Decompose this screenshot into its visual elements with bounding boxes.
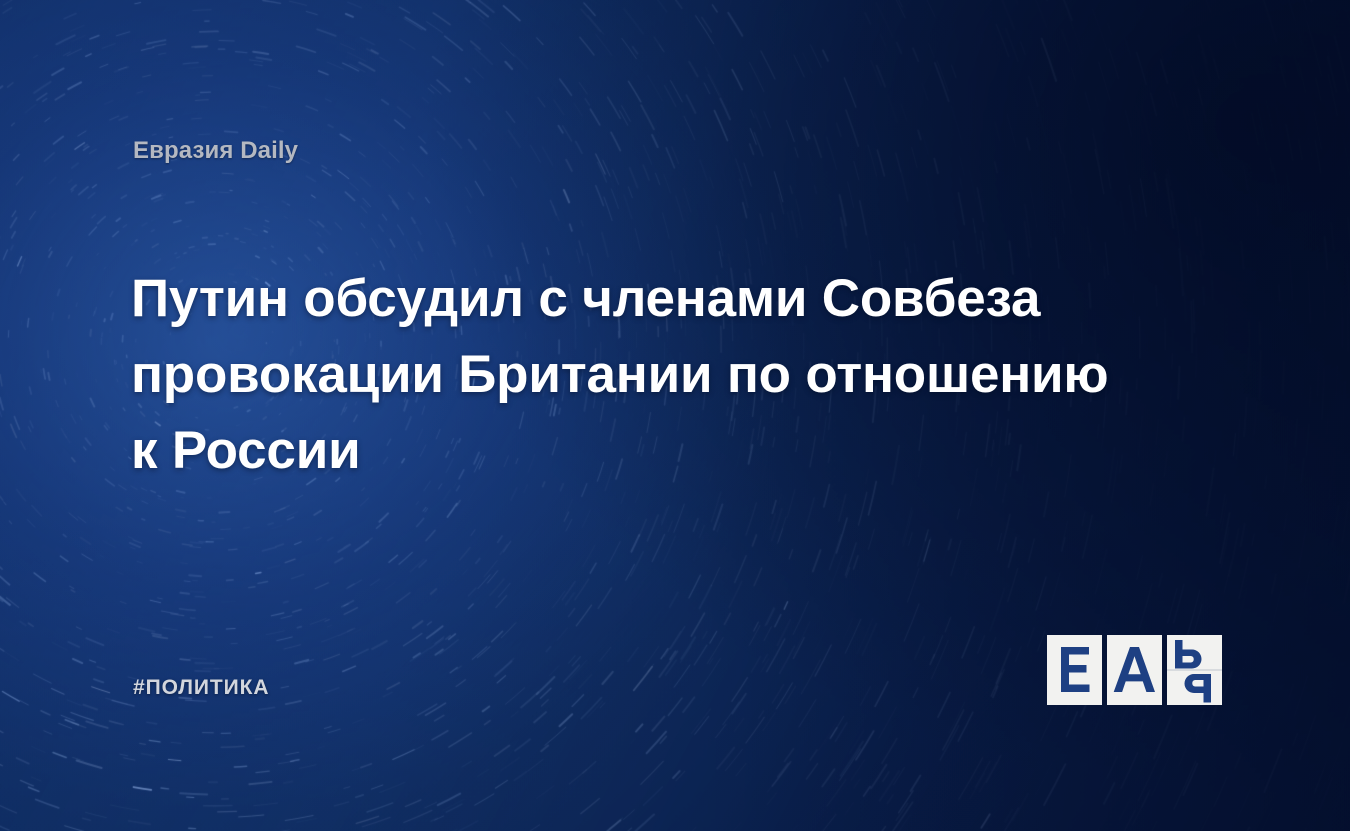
logo-letter-e [1061,647,1090,692]
social-share-card: Евразия Daily Путин обсудил с членами Со… [0,0,1350,831]
card-content: Евразия Daily Путин обсудил с членами Со… [0,0,1350,831]
eadaily-logo-svg [1047,633,1222,707]
category-tag: #ПОЛИТИКА [133,676,269,700]
brand-wordmark: Евразия Daily [133,137,298,165]
eadaily-logo [1047,633,1222,707]
article-headline: Путин обсудил с членами Совбеза провокац… [131,261,1141,489]
logo-tile-a [1107,635,1162,705]
